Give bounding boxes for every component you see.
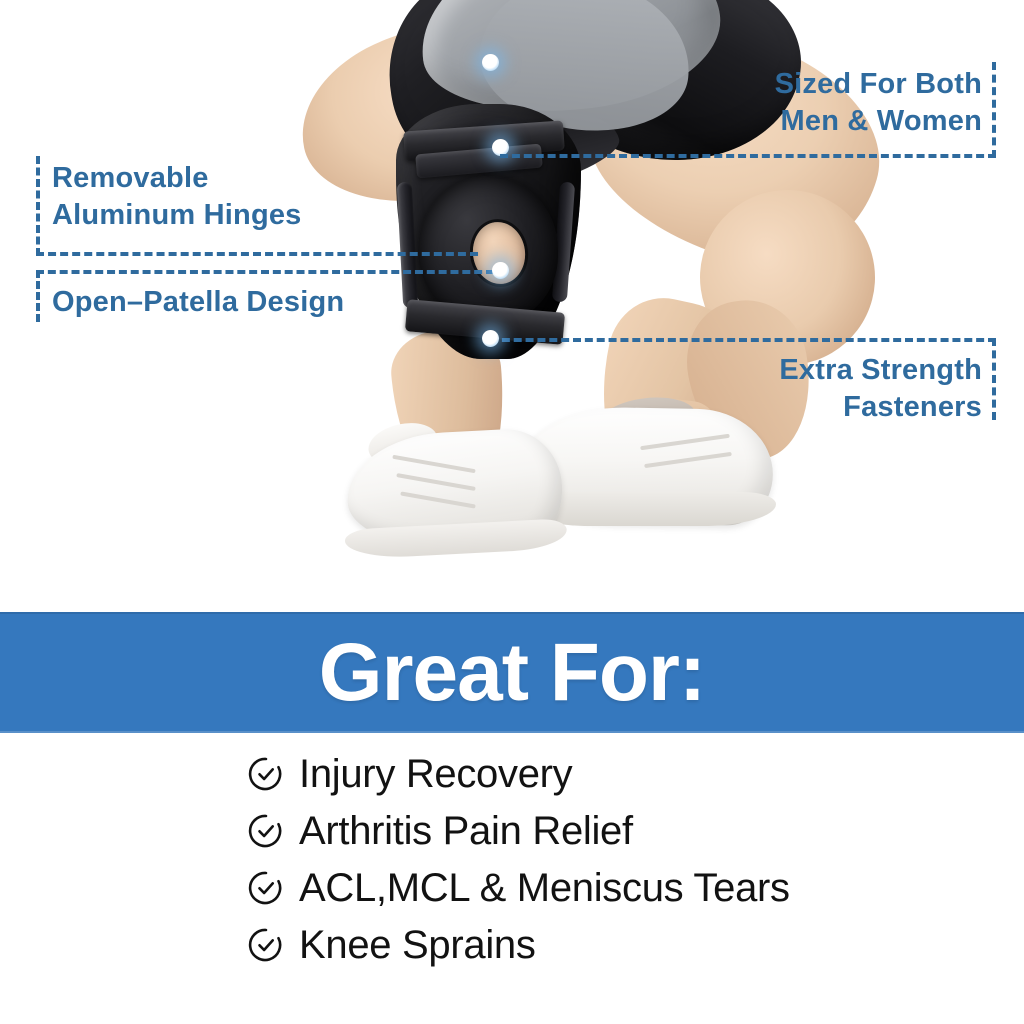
infographic-page: Removable Aluminum Hinges Open–Patella D… <box>0 0 1024 1024</box>
callout-line: Extra Strength <box>600 352 982 389</box>
list-item-label: Arthritis Pain Relief <box>299 811 633 851</box>
list-item-label: Injury Recovery <box>299 754 572 794</box>
callout-line: Open–Patella Design <box>52 284 344 321</box>
list-item: Knee Sprains <box>0 916 1024 973</box>
patella-marker-dot <box>492 262 509 279</box>
check-circle-icon <box>247 812 285 850</box>
check-circle-icon <box>247 926 285 964</box>
fastener-marker-dot <box>482 330 499 347</box>
callout-removable-aluminum-hinges: Removable Aluminum Hinges <box>52 160 302 234</box>
callout-line: Sized For Both <box>600 66 982 103</box>
list-item-label: Knee Sprains <box>299 925 536 965</box>
callout-open-patella-design: Open–Patella Design <box>52 284 344 321</box>
top-strap-marker-dot <box>482 54 499 71</box>
product-photo: Removable Aluminum Hinges Open–Patella D… <box>0 0 1024 612</box>
list-item: ACL,MCL & Meniscus Tears <box>0 859 1024 916</box>
callout-leader-patella <box>36 270 494 274</box>
callout-line: Aluminum Hinges <box>52 197 302 234</box>
great-for-checklist: Injury Recovery Arthritis Pain Relief AC… <box>0 745 1024 973</box>
list-item: Arthritis Pain Relief <box>0 802 1024 859</box>
callout-extra-strength-fasteners: Extra Strength Fasteners <box>600 352 982 426</box>
great-for-banner: Great For: <box>0 612 1024 733</box>
callout-bracket-patella <box>36 270 40 322</box>
callout-sized-for-both-men-women: Sized For Both Men & Women <box>600 66 982 140</box>
callout-line: Removable <box>52 160 302 197</box>
check-circle-icon <box>247 869 285 907</box>
callout-line: Fasteners <box>600 389 982 426</box>
list-item: Injury Recovery <box>0 745 1024 802</box>
list-item-label: ACL,MCL & Meniscus Tears <box>299 868 790 908</box>
callout-line: Men & Women <box>600 103 982 140</box>
banner-title: Great For: <box>319 632 705 714</box>
check-circle-icon <box>247 755 285 793</box>
